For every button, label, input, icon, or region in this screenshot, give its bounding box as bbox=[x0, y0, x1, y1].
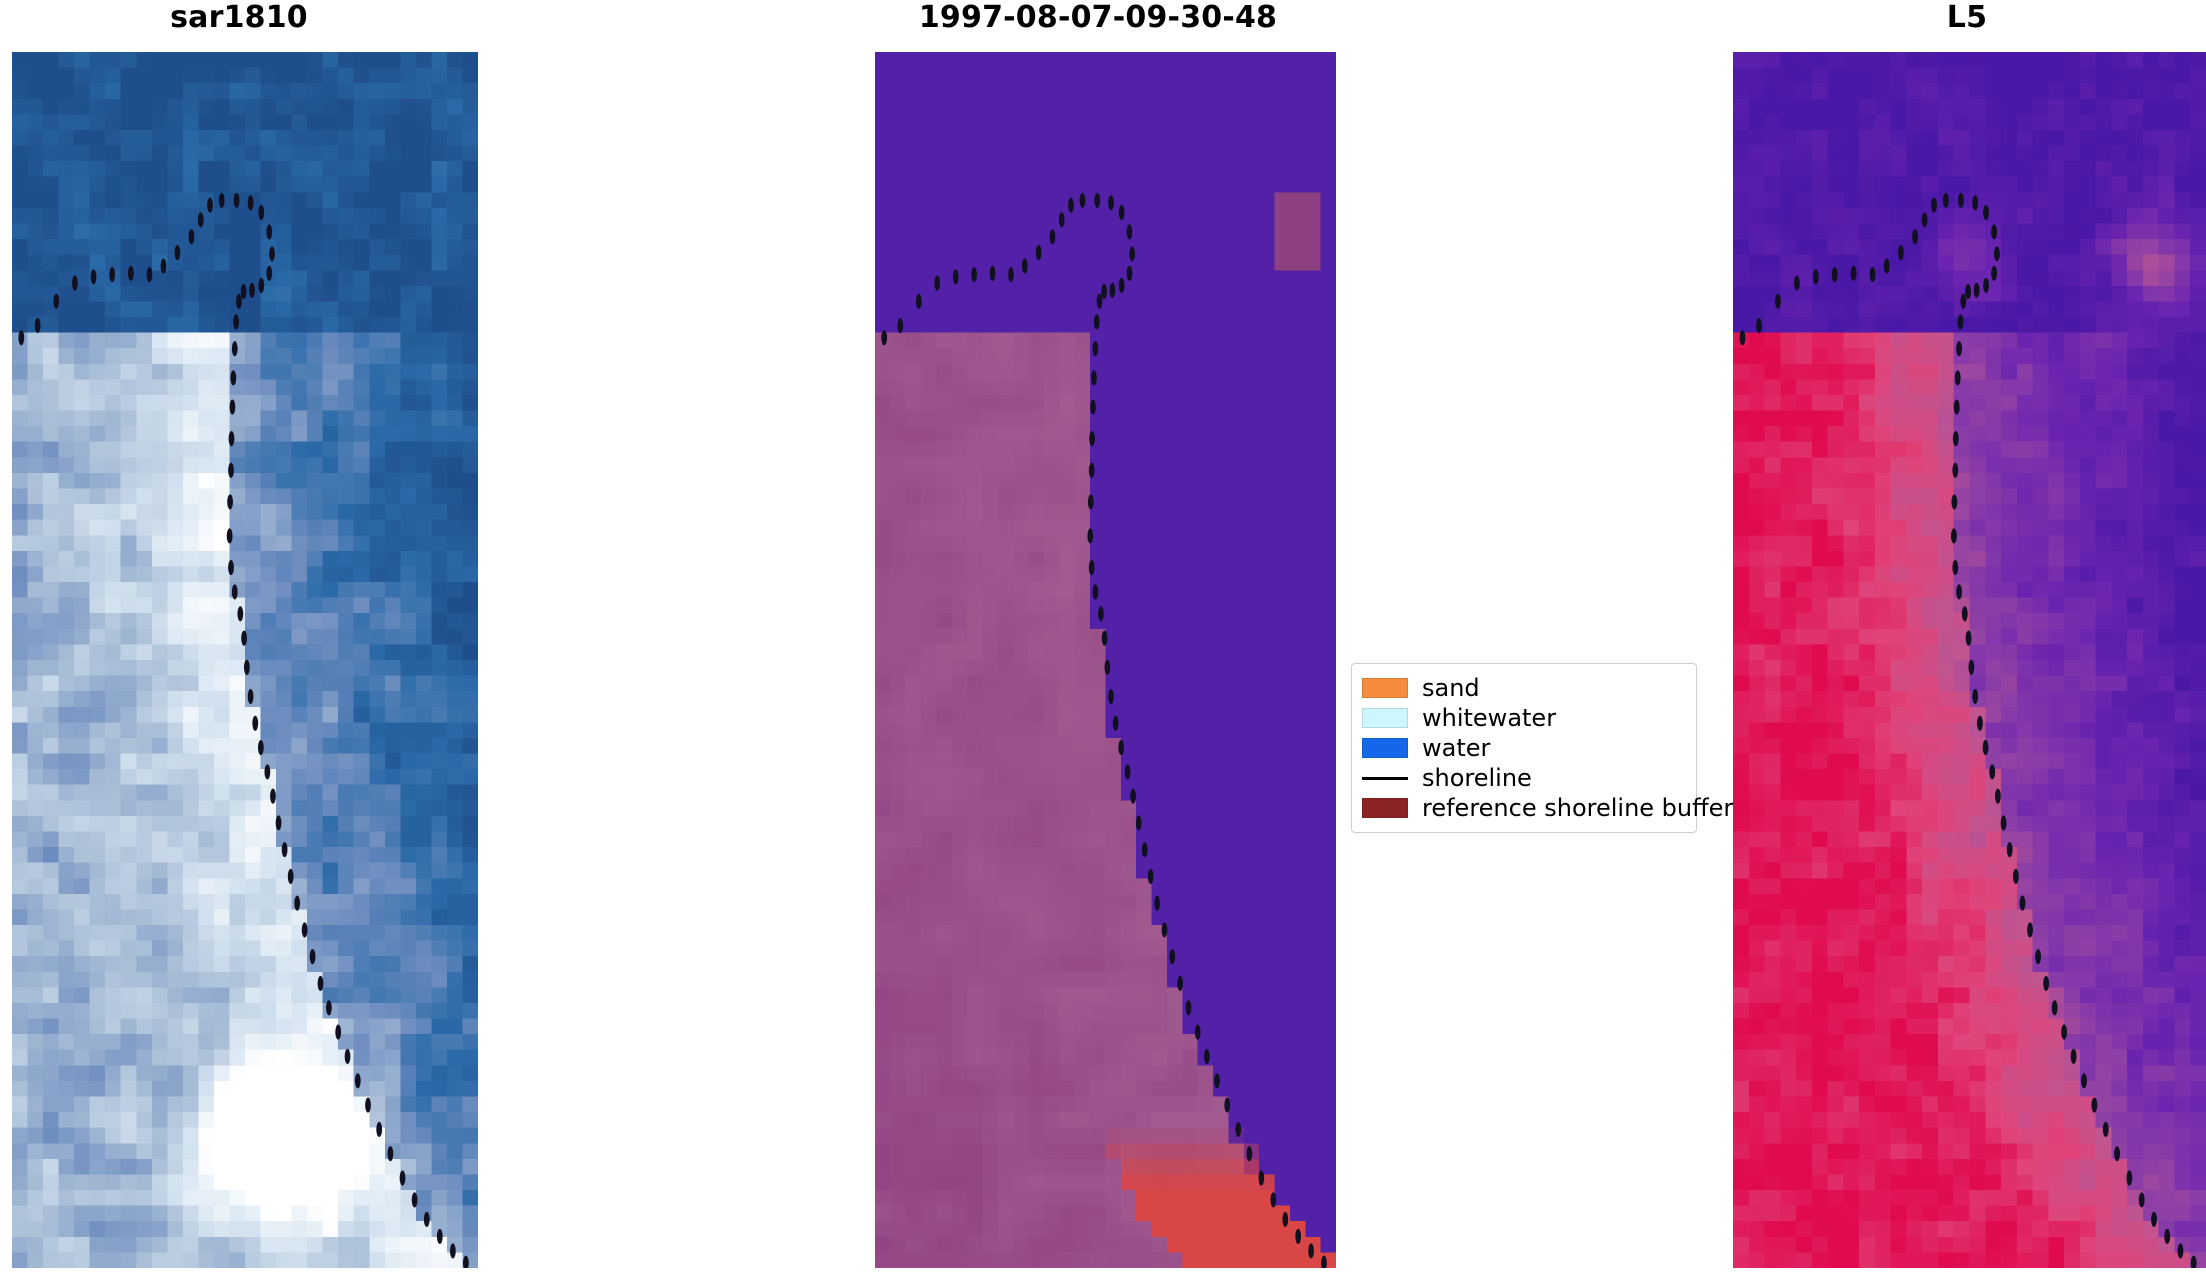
water-swatch-icon bbox=[1362, 738, 1408, 758]
figure-canvas: sar1810 1997-08-07-09-30-48 L5 sand whit… bbox=[0, 0, 2206, 1283]
legend-item[interactable]: whitewater bbox=[1362, 703, 1684, 733]
legend-item-label: whitewater bbox=[1422, 706, 1556, 730]
shoreline-overlay-classification bbox=[875, 52, 1336, 1268]
legend-box: sand whitewater water shoreline referenc… bbox=[1351, 663, 1697, 833]
legend-item-label: water bbox=[1422, 736, 1490, 760]
panel-classification-title: 1997-08-07-09-30-48 bbox=[860, 0, 1336, 35]
shoreline-overlay-sar bbox=[12, 52, 478, 1268]
panel-l5: L5 bbox=[1728, 0, 2206, 1283]
panel-sar-title: sar1810 bbox=[0, 0, 478, 35]
shoreline-line-icon bbox=[1362, 777, 1408, 780]
legend-item-label: reference shoreline buffer bbox=[1422, 796, 1733, 820]
sand-swatch-icon bbox=[1362, 678, 1408, 698]
whitewater-swatch-icon bbox=[1362, 708, 1408, 728]
panel-sar-axes[interactable] bbox=[12, 52, 478, 1268]
panel-l5-axes[interactable] bbox=[1733, 52, 2206, 1268]
legend-item[interactable]: sand bbox=[1362, 673, 1684, 703]
panel-classification-axes[interactable] bbox=[875, 52, 1336, 1268]
legend-item-label: sand bbox=[1422, 676, 1480, 700]
panel-sar: sar1810 bbox=[0, 0, 478, 1283]
reference-buffer-swatch-icon bbox=[1362, 798, 1408, 818]
panel-classification: 1997-08-07-09-30-48 bbox=[860, 0, 1336, 1283]
legend-item-label: shoreline bbox=[1422, 766, 1532, 790]
panel-l5-title: L5 bbox=[1728, 0, 2206, 35]
shoreline-overlay-l5 bbox=[1733, 52, 2206, 1268]
legend-item[interactable]: shoreline bbox=[1362, 763, 1684, 793]
legend-item[interactable]: water bbox=[1362, 733, 1684, 763]
legend-item[interactable]: reference shoreline buffer bbox=[1362, 793, 1684, 823]
